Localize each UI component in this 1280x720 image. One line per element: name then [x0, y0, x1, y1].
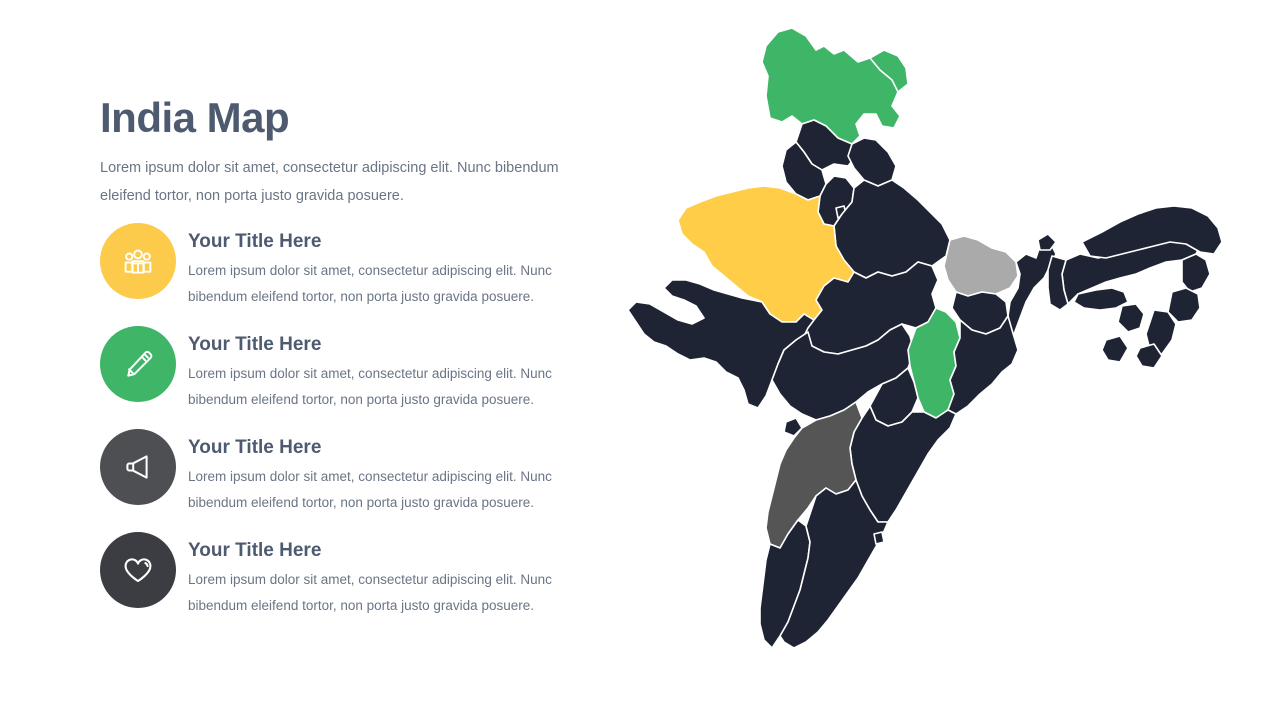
feature-title-2: Your Title Here	[188, 335, 594, 356]
feature-icon-badge-1[interactable]	[100, 223, 176, 299]
feature-text-2: Your Title Here Lorem ipsum dolor sit am…	[188, 325, 594, 412]
feature-icon-badge-2[interactable]	[100, 326, 176, 402]
page-title: India Map	[100, 96, 600, 140]
feature-text-3: Your Title Here Lorem ipsum dolor sit am…	[188, 428, 594, 515]
slide-root: India Map Lorem ipsum dolor sit amet, co…	[0, 0, 1280, 720]
map-region-bihar[interactable]	[944, 236, 1018, 296]
map-region-puducherry[interactable]	[874, 532, 884, 544]
feature-text-1: Your Title Here Lorem ipsum dolor sit am…	[188, 222, 594, 309]
heart-icon	[119, 551, 157, 589]
feature-desc-2: Lorem ipsum dolor sit amet, consectetur …	[188, 361, 594, 412]
map-region-uttarakhand[interactable]	[848, 138, 896, 186]
feature-title-4: Your Title Here	[188, 541, 594, 562]
feature-desc-3: Lorem ipsum dolor sit amet, consectetur …	[188, 464, 594, 515]
feature-desc-1: Lorem ipsum dolor sit amet, consectetur …	[188, 258, 594, 309]
header-block: India Map Lorem ipsum dolor sit amet, co…	[100, 96, 600, 211]
feature-item-2[interactable]: Your Title Here Lorem ipsum dolor sit am…	[100, 325, 605, 428]
feature-list: Your Title Here Lorem ipsum dolor sit am…	[100, 222, 605, 634]
feature-item-4[interactable]: Your Title Here Lorem ipsum dolor sit am…	[100, 531, 605, 634]
feature-text-4: Your Title Here Lorem ipsum dolor sit am…	[188, 531, 594, 618]
megaphone-icon	[119, 448, 157, 486]
feature-desc-4: Lorem ipsum dolor sit amet, consectetur …	[188, 567, 594, 618]
map-region-nagaland[interactable]	[1182, 254, 1210, 292]
feature-icon-badge-3[interactable]	[100, 429, 176, 505]
map-region-ne-lower-a[interactable]	[1102, 336, 1128, 362]
feature-item-3[interactable]: Your Title Here Lorem ipsum dolor sit am…	[100, 428, 605, 531]
feature-icon-badge-4[interactable]	[100, 532, 176, 608]
map-region-manipur[interactable]	[1168, 288, 1200, 322]
feature-title-1: Your Title Here	[188, 232, 594, 253]
map-region-jammu-kashmir[interactable]	[762, 28, 908, 144]
feature-title-3: Your Title Here	[188, 438, 594, 459]
map-region-tripura[interactable]	[1118, 304, 1144, 332]
page-subtitle: Lorem ipsum dolor sit amet, consectetur …	[100, 154, 585, 211]
pencil-icon	[119, 345, 157, 383]
group-people-icon	[119, 242, 157, 280]
india-map[interactable]	[620, 10, 1280, 720]
feature-item-1[interactable]: Your Title Here Lorem ipsum dolor sit am…	[100, 222, 605, 325]
